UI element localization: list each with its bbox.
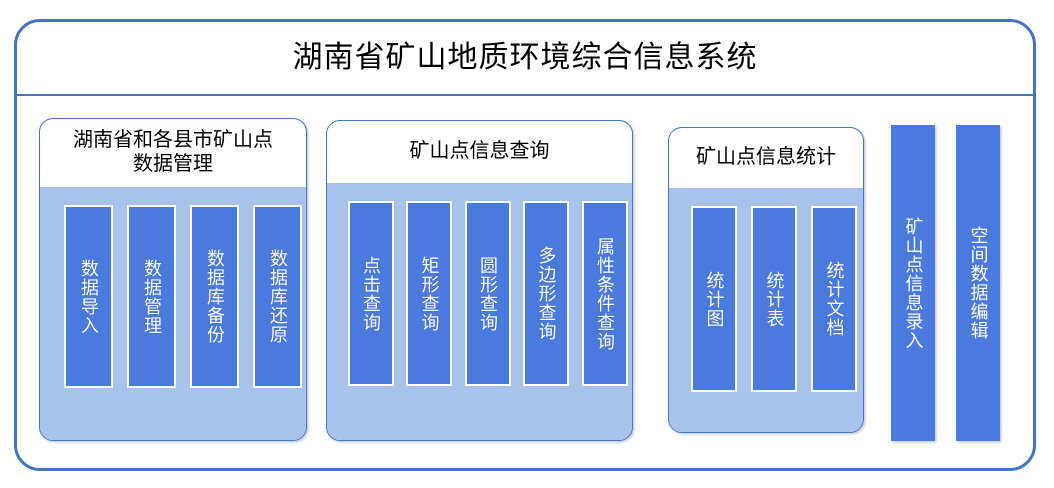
- module-data-manage[interactable]: 数据管理: [127, 205, 176, 388]
- module-spatial-data-edit[interactable]: 空间数据编辑: [956, 125, 1000, 441]
- module-db-restore[interactable]: 数据库还原: [253, 205, 302, 388]
- module-rectangle-query[interactable]: 矩形查询: [406, 201, 452, 386]
- module-stat-chart[interactable]: 统计图: [691, 206, 737, 392]
- module-data-import[interactable]: 数据导入: [64, 205, 113, 388]
- module-circle-query[interactable]: 圆形查询: [465, 201, 511, 386]
- title-divider: [17, 94, 1033, 96]
- module-stat-document[interactable]: 统计文档: [811, 206, 857, 392]
- module-attribute-query[interactable]: 属性条件查询: [582, 201, 628, 386]
- system-frame: 湖南省矿山地质环境综合信息系统 湖南省和各县市矿山点 数据管理 数据导入 数据管…: [14, 19, 1036, 471]
- panel-info-statistics[interactable]: 矿山点信息统计 统计图 统计表 统计文档: [668, 127, 864, 433]
- panel-data-management-title: 湖南省和各县市矿山点 数据管理: [40, 119, 306, 187]
- panel-info-statistics-title: 矿山点信息统计: [669, 128, 863, 188]
- module-mine-point-entry[interactable]: 矿山点信息录入: [891, 125, 935, 441]
- module-db-backup[interactable]: 数据库备份: [190, 205, 239, 388]
- panel-info-statistics-items: 统计图 统计表 统计文档: [669, 188, 864, 433]
- module-click-query[interactable]: 点击查询: [348, 201, 394, 386]
- panel-data-management[interactable]: 湖南省和各县市矿山点 数据管理 数据导入 数据管理 数据库备份 数据库还原: [39, 118, 307, 441]
- panel-info-query-items: 点击查询 矩形查询 圆形查询 多边形查询 属性条件查询: [327, 183, 633, 441]
- module-stat-table[interactable]: 统计表: [751, 206, 797, 392]
- module-polygon-query[interactable]: 多边形查询: [523, 201, 569, 386]
- panel-info-query-title: 矿山点信息查询: [327, 121, 632, 183]
- panel-data-management-items: 数据导入 数据管理 数据库备份 数据库还原: [40, 187, 307, 441]
- panel-info-query[interactable]: 矿山点信息查询 点击查询 矩形查询 圆形查询 多边形查询 属性条件查询: [326, 120, 633, 441]
- system-title: 湖南省矿山地质环境综合信息系统: [17, 22, 1033, 94]
